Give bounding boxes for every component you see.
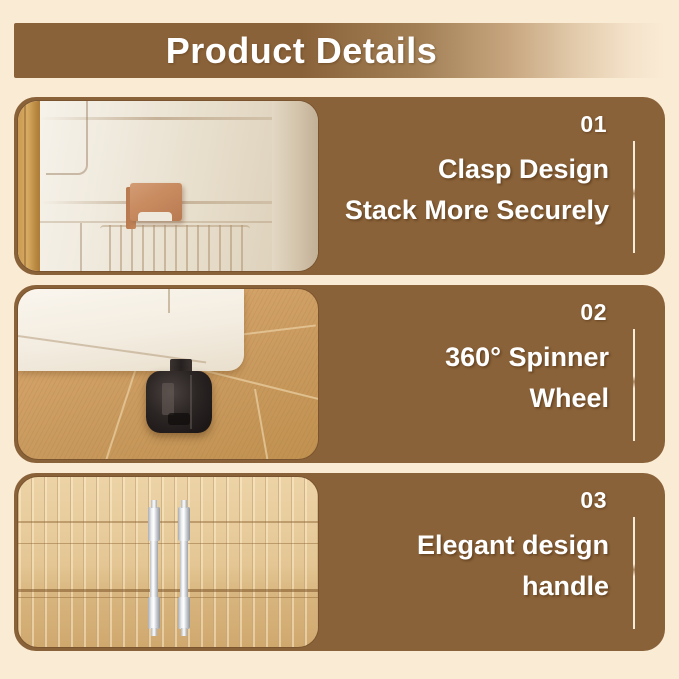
caption-line-3b: handle — [332, 566, 609, 607]
caption-line-2b: Wheel — [332, 378, 609, 419]
feature-photo-wheel — [18, 289, 318, 459]
feature-caption-3: Elegant design handle — [332, 525, 609, 607]
feature-photo-handle — [18, 477, 318, 647]
feature-row-1: 01 Clasp Design Stack More Securely — [14, 97, 665, 275]
caster-twin-split — [190, 375, 192, 429]
rod-cap-bottom — [148, 597, 160, 629]
caster-notch — [162, 383, 174, 415]
rod-cap-bottom — [178, 597, 190, 629]
feature-divider-rule-1 — [633, 141, 635, 253]
rod-tip-top — [151, 500, 157, 508]
page-title: Product Details — [166, 30, 438, 72]
feature-row-3: 03 Elegant design handle — [14, 473, 665, 651]
product-details-page: Product Details 01 Clasp — [0, 0, 679, 679]
feature-caption-1: Clasp Design Stack More Securely — [332, 149, 609, 231]
feature-content-2: 02 360° Spinner Wheel — [322, 285, 665, 463]
box-corner-outline — [46, 101, 88, 175]
rod-tip-bottom — [181, 628, 187, 636]
box-corner-outline-lower — [46, 223, 82, 271]
caption-line-3a: Elegant design — [332, 525, 609, 566]
caption-line-2a: 360° Spinner — [332, 337, 609, 378]
rod-cap-top — [148, 507, 160, 541]
box-panel-line — [168, 289, 170, 313]
handle-rod-right — [178, 507, 190, 629]
caster-notch-lower — [168, 413, 190, 425]
feature-caption-2: 360° Spinner Wheel — [332, 337, 609, 419]
feature-content-3: 03 Elegant design handle — [322, 473, 665, 651]
caption-line-1b: Stack More Securely — [332, 190, 609, 231]
spinner-caster-wheel — [146, 371, 212, 433]
caption-line-1a: Clasp Design — [332, 149, 609, 190]
clasp-latch — [130, 183, 182, 221]
slat-line-2 — [18, 543, 318, 544]
feature-number-1: 01 — [580, 111, 607, 138]
rod-cap-top — [178, 507, 190, 541]
feature-number-3: 03 — [580, 487, 607, 514]
slat-line-1 — [18, 521, 318, 523]
storage-box-base — [18, 289, 244, 371]
feature-divider-rule-2 — [633, 329, 635, 441]
feature-number-2: 02 — [580, 299, 607, 326]
box-vent-ribs — [100, 225, 250, 271]
feature-photo-clasp — [18, 101, 318, 271]
box-right-side-panel — [272, 101, 318, 271]
rod-tip-top — [181, 500, 187, 508]
feature-divider-rule-3 — [633, 517, 635, 629]
slat-line-4 — [18, 597, 318, 598]
feature-content-1: 01 Clasp Design Stack More Securely — [322, 97, 665, 275]
feature-row-2: 02 360° Spinner Wheel — [14, 285, 665, 463]
rod-tip-bottom — [151, 628, 157, 636]
handle-rod-left — [148, 507, 160, 629]
page-header-bar: Product Details — [14, 23, 665, 78]
bamboo-slat-background — [18, 477, 318, 647]
slat-line-3 — [18, 589, 318, 592]
